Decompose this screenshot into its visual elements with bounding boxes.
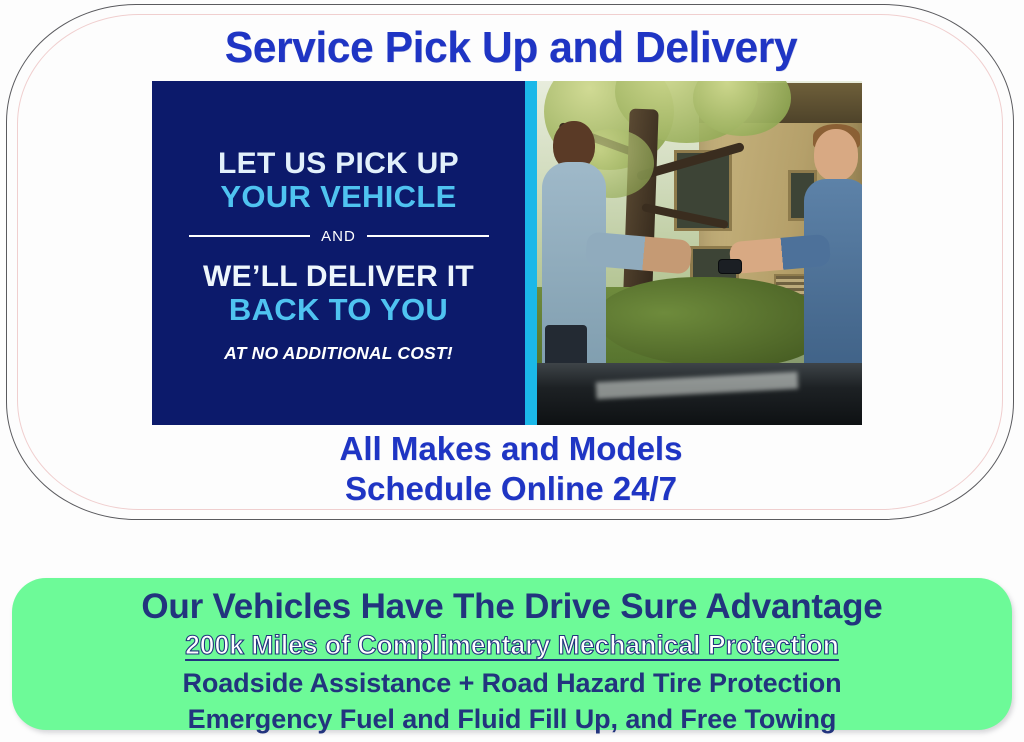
promo-photo xyxy=(537,81,862,425)
promo-line-1: LET US PICK UP xyxy=(218,148,459,179)
promo-banner: LET US PICK UP YOUR VEHICLE AND WE’LL DE… xyxy=(152,81,862,425)
green-card-highlight: 200k Miles of Complimentary Mechanical P… xyxy=(12,628,1012,662)
photo-person-customer xyxy=(540,115,631,376)
caption-line-1: All Makes and Models xyxy=(7,429,1015,469)
service-pickup-card: Service Pick Up and Delivery LET US PICK… xyxy=(6,4,1014,520)
photo-person-head xyxy=(814,129,858,181)
green-card-detail-line-1: Roadside Assistance + Road Hazard Tire P… xyxy=(12,668,1012,700)
caption-line-2: Schedule Online 24/7 xyxy=(7,469,1015,509)
promo-caption: All Makes and Models Schedule Online 24/… xyxy=(7,429,1015,510)
promo-banner-text-panel: LET US PICK UP YOUR VEHICLE AND WE’LL DE… xyxy=(152,81,525,425)
green-card-heading: Our Vehicles Have The Drive Sure Advanta… xyxy=(12,587,1012,626)
green-card-detail-line-2: Emergency Fuel and Fluid Fill Up, and Fr… xyxy=(12,704,1012,736)
promo-connector-row: AND xyxy=(189,228,489,245)
page-title: Service Pick Up and Delivery xyxy=(22,23,1000,73)
promo-subline: AT NO ADDITIONAL COST! xyxy=(224,343,453,364)
divider-rule-left xyxy=(189,235,311,237)
drive-sure-advantage-card: Our Vehicles Have The Drive Sure Advanta… xyxy=(12,578,1012,730)
promo-cyan-divider xyxy=(525,81,537,425)
promo-line-2: YOUR VEHICLE xyxy=(220,181,456,213)
photo-person-driver xyxy=(784,129,862,377)
promo-connector-word: AND xyxy=(310,228,367,245)
photo-person-torso xyxy=(542,162,606,376)
promo-line-3: WE’LL DELIVER IT xyxy=(203,261,474,292)
promo-line-4: BACK TO YOU xyxy=(229,294,448,326)
photo-person-torso xyxy=(804,179,862,377)
divider-rule-right xyxy=(367,235,489,237)
photo-car-key-icon xyxy=(719,260,741,273)
